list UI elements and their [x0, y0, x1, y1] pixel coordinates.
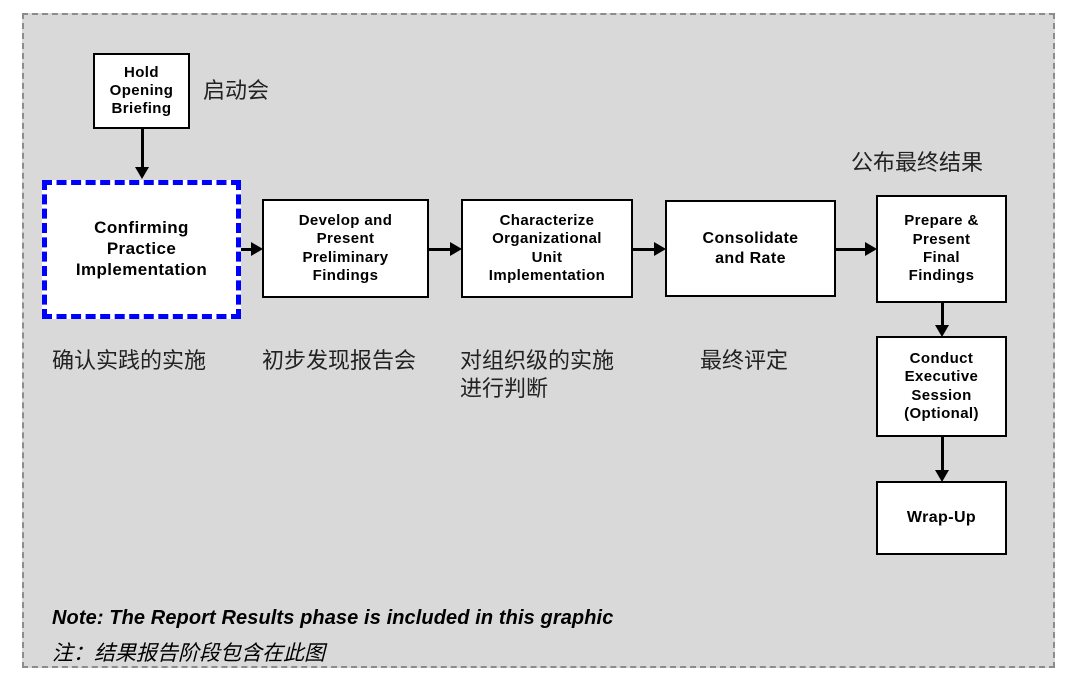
arrow-confirming-to-develop	[241, 241, 263, 257]
arrow-shaft	[836, 248, 867, 251]
arrow-shaft	[941, 437, 944, 470]
note-text-english: Note: The Report Results phase is includ…	[52, 607, 613, 630]
node-label: Develop and Present Preliminary Findings	[299, 212, 393, 285]
annotation-publish-final-results: 公布最终结果	[851, 150, 983, 178]
arrow-head-icon	[135, 167, 149, 179]
node-consolidate-and-rate[interactable]: Consolidate and Rate	[665, 200, 836, 297]
node-prepare-present-final-findings[interactable]: Prepare & Present Final Findings	[876, 195, 1007, 303]
arrow-consolidate-to-prepare	[836, 241, 877, 257]
arrow-shaft	[633, 248, 656, 251]
annotation-final-rating: 最终评定	[700, 348, 788, 376]
node-label: Conduct Executive Session (Optional)	[904, 350, 979, 423]
arrow-prepare-to-conduct	[934, 303, 950, 337]
node-wrap-up[interactable]: Wrap-Up	[876, 481, 1007, 555]
node-hold-opening-briefing[interactable]: Hold Opening Briefing	[93, 53, 190, 129]
arrow-characterize-to-consolidate	[633, 241, 666, 257]
annotation-kickoff: 启动会	[203, 78, 269, 106]
arrow-develop-to-characterize	[429, 241, 462, 257]
node-label: Confirming Practice Implementation	[76, 218, 207, 280]
annotation-characterize: 对组织级的实施 进行判断	[460, 348, 614, 404]
node-develop-present-preliminary-findings[interactable]: Develop and Present Preliminary Findings	[262, 199, 429, 298]
node-label: Consolidate and Rate	[703, 229, 799, 268]
node-characterize-organizational-unit-implementation[interactable]: Characterize Organizational Unit Impleme…	[461, 199, 633, 298]
node-label: Hold Opening Briefing	[110, 64, 174, 119]
arrow-shaft	[429, 248, 452, 251]
node-confirming-practice-implementation[interactable]: Confirming Practice Implementation	[42, 180, 241, 319]
node-conduct-executive-session[interactable]: Conduct Executive Session (Optional)	[876, 336, 1007, 437]
annotation-confirm-practice: 确认实践的实施	[52, 348, 206, 376]
arrow-conduct-to-wrapup	[934, 437, 950, 482]
arrow-briefing-to-confirming	[134, 129, 150, 179]
arrow-shaft	[141, 129, 144, 167]
diagram-canvas: Hold Opening Briefing Confirming Practic…	[0, 0, 1080, 689]
arrow-shaft	[941, 303, 944, 325]
note-text-chinese: 注：结果报告阶段包含在此图	[52, 637, 325, 667]
node-label: Prepare & Present Final Findings	[904, 212, 978, 285]
node-label: Characterize Organizational Unit Impleme…	[489, 212, 605, 285]
node-label: Wrap-Up	[907, 508, 976, 528]
annotation-preliminary-findings: 初步发现报告会	[262, 348, 416, 376]
